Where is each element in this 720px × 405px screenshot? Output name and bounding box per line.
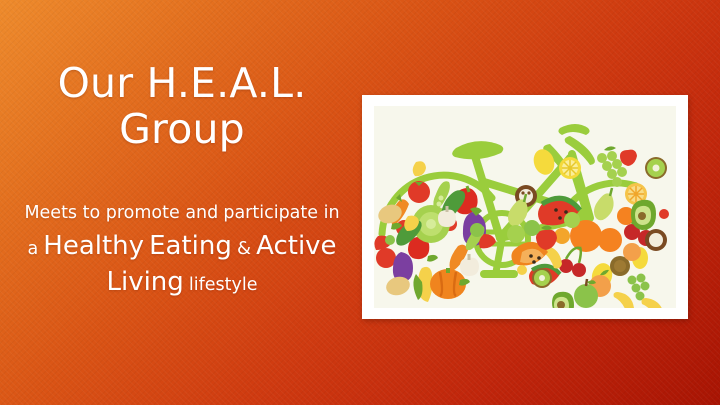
subtitle-ampersand: & bbox=[237, 238, 251, 259]
bicycle-fruit-vegetable-svg bbox=[374, 106, 676, 308]
subtitle-text: Meets to promote and participate in a He… bbox=[22, 196, 342, 302]
subtitle-part-6: Active bbox=[256, 231, 336, 261]
page-title: Our H.E.A.L. Group bbox=[22, 60, 342, 152]
subtitle-part-8: lifestyle bbox=[189, 275, 258, 295]
subtitle-part-1: Meets to promote and bbox=[24, 203, 218, 223]
bicycle-illustration bbox=[374, 106, 676, 308]
presentation-slide: Our H.E.A.L. Group Meets to promote and … bbox=[0, 0, 720, 405]
title-line-1: Our H.E.A.L. bbox=[58, 59, 307, 107]
subtitle-part-7: Living bbox=[106, 267, 183, 297]
picture-frame bbox=[362, 95, 688, 319]
subtitle-part-4: Eating bbox=[149, 231, 232, 261]
text-column: Our H.E.A.L. Group Meets to promote and … bbox=[22, 60, 342, 302]
subtitle-part-3: Healthy bbox=[43, 231, 144, 261]
title-line-2: Group bbox=[22, 106, 342, 152]
